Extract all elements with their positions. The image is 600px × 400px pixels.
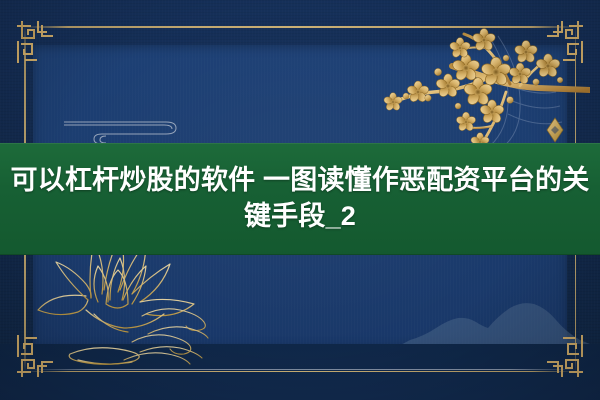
frame-bottom-line [24, 371, 576, 373]
title-band: 可以杠杆炒股的软件 一图读懂作恶配资平台的关键手段_2 [0, 143, 600, 255]
page-title: 可以杠杆炒股的软件 一图读懂作恶配资平台的关键手段_2 [0, 163, 600, 234]
chinese-fret-corner-icon [12, 16, 64, 68]
banner-image: 可以杠杆炒股的软件 一图读懂作恶配资平台的关键手段_2 [0, 0, 600, 400]
chinese-fret-corner-icon [536, 330, 588, 382]
